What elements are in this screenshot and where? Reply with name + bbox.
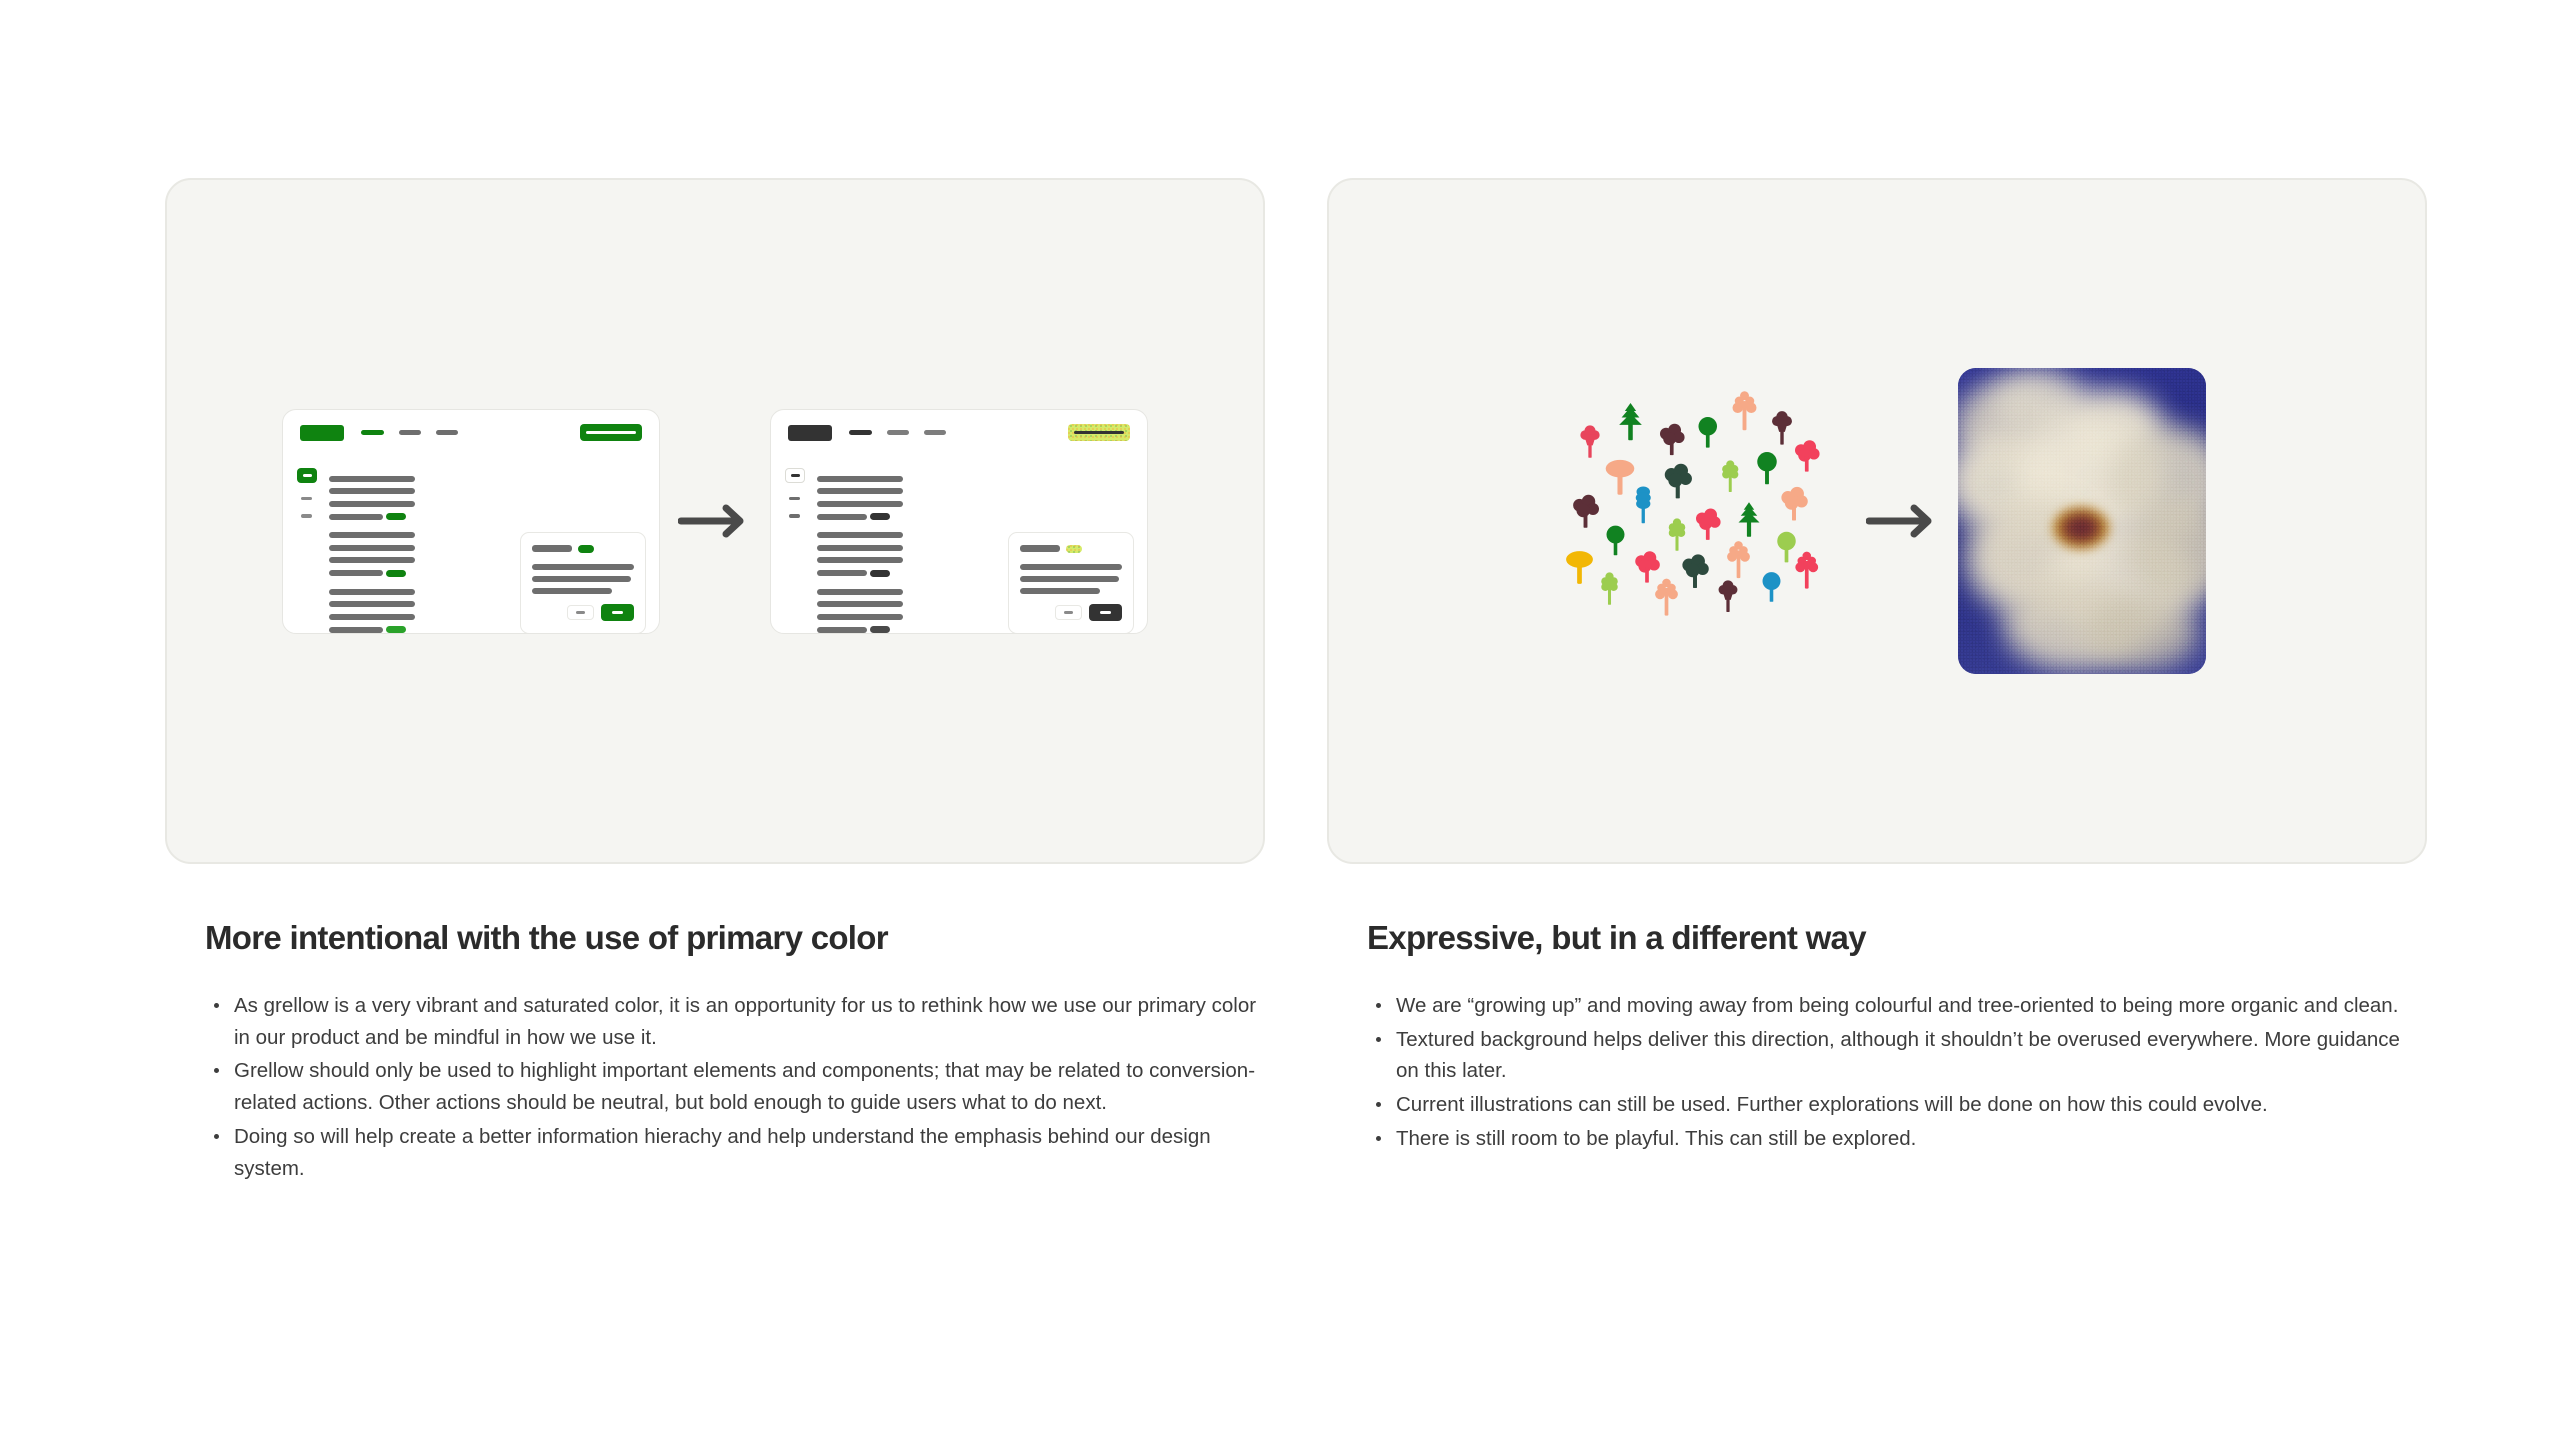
mockup-body [283,456,659,633]
tree-layered [1733,391,1757,430]
panel-line [1020,576,1119,582]
list-group [817,532,921,577]
tree-round [1607,526,1625,556]
panel-header [532,545,634,553]
list-row [329,488,433,494]
rail-item-label [303,474,312,477]
list-item: Doing so will help create a better infor… [205,1121,1261,1185]
detail-panel [1008,532,1134,634]
status-chip [578,545,594,553]
list-row [817,570,921,577]
list-row [329,545,433,551]
list-row [817,601,921,607]
row-tag [870,513,890,520]
list-row [817,589,921,595]
tree-round [1777,532,1796,563]
nav-item[interactable] [436,430,458,435]
nav-item[interactable] [924,430,946,435]
tree-tall [1636,487,1651,524]
tree-layered [1795,552,1818,589]
mockup-topbar [771,410,1147,456]
list-row [817,614,921,620]
column-primary-color: More intentional with the use of primary… [165,178,1265,1187]
status-chip [1066,545,1082,553]
page-title: Expressive, but in a different way [1367,920,2423,957]
text-block-expressive: Expressive, but in a different way We ar… [1327,864,2427,1155]
mockup-side-rail [283,456,329,633]
list-row [817,532,921,538]
list-item: Grellow should only be used to highlight… [205,1055,1261,1119]
logo-block [300,425,344,441]
tree-round [1763,572,1781,602]
panel-body [1020,564,1122,594]
rail-item[interactable] [789,497,800,501]
list-item: Textured background helps deliver this d… [1367,1024,2423,1088]
ui-mockup-green-heavy [282,409,660,634]
panel-line [1020,564,1122,570]
tree-leafy [1669,518,1686,550]
tree-cluster-svg [1548,371,1848,671]
comparison-columns: More intentional with the use of primary… [0,0,2560,1187]
mockup-side-rail [771,456,817,633]
tree-layered [1727,541,1750,578]
list-row [817,501,921,507]
mockup-body [771,456,1147,633]
list-group [329,476,433,521]
row-tag [870,626,890,633]
secondary-button[interactable] [1055,605,1082,620]
tree-fir [1719,580,1738,612]
rail-item-label [791,474,800,477]
list-group [329,532,433,577]
rail-item[interactable] [301,497,312,501]
list-row [817,513,921,520]
row-tag [386,513,406,520]
text-block-primary-color: More intentional with the use of primary… [165,864,1265,1185]
arrow-right-icon [1848,501,1958,541]
list-group [329,589,433,634]
bullet-list-expressive: We are “growing up” and moving away from… [1367,990,2423,1155]
primary-cta-button[interactable] [580,424,642,441]
primary-button-label [1100,611,1111,614]
panel-header [1020,545,1122,553]
panel-line [532,588,612,594]
list-row [329,626,433,633]
panel-line [532,576,631,582]
nav-item-active[interactable] [361,430,384,435]
list-row [329,614,433,620]
mockup-topnav [361,430,458,435]
page-title: More intentional with the use of primary… [205,920,1261,957]
row-tag [386,570,406,577]
tree-cloud [1665,464,1692,499]
photo-grain-texture [1958,368,2206,674]
panel-title [1020,545,1060,552]
tree-round [1757,452,1777,484]
tree-leafy [1722,460,1738,492]
tree-round [1698,417,1717,448]
row-tag [870,570,890,577]
list-row [329,570,433,577]
tree-cloud [1635,551,1660,582]
detail-panel [520,532,646,634]
bullet-list-primary-color: As grellow is a very vibrant and saturat… [205,990,1261,1185]
list-row [329,601,433,607]
rail-item[interactable] [789,514,800,518]
nav-item[interactable] [399,430,421,435]
mockup-topbar [283,410,659,456]
showcase-card-primary-color [165,178,1265,864]
tree-fir [1580,425,1599,457]
list-item: There is still room to be playful. This … [1367,1123,2423,1155]
row-tag [386,626,406,633]
list-row [329,513,433,520]
list-row [329,532,433,538]
tree-pine [1739,502,1760,537]
tree-blob [1606,460,1635,495]
primary-cta-button[interactable] [1068,424,1130,441]
nav-item[interactable] [887,430,909,435]
tree-cloud [1573,495,1599,528]
tree-cloud [1682,554,1708,588]
showcase-card-expressive [1327,178,2427,864]
list-row [329,557,433,563]
list-group [817,589,921,634]
list-row [817,476,921,482]
list-row [329,501,433,507]
panel-actions [1020,604,1122,621]
tree-cloud [1696,509,1721,540]
tree-leafy [1601,572,1618,604]
tree-blob [1566,551,1593,584]
grellow-texture [1066,545,1082,553]
list-row [817,626,921,633]
secondary-button-label [1064,611,1073,614]
tree-illustration-cluster [1548,371,1848,671]
list-group [817,476,921,521]
list-row [329,589,433,595]
rail-item-active[interactable] [297,468,317,483]
list-row [817,557,921,563]
panel-line [532,564,634,570]
primary-button[interactable] [1089,604,1122,621]
tree-cloud [1795,440,1820,471]
tree-layered [1655,579,1678,616]
primary-button-label [612,611,623,614]
logo-block [788,425,832,441]
column-expressive: Expressive, but in a different way We ar… [1327,178,2427,1187]
nav-item-active[interactable] [849,430,872,435]
list-row [817,545,921,551]
primary-button[interactable] [601,604,634,621]
arrow-right-icon [660,501,770,541]
panel-actions [532,604,634,621]
tree-pine [1619,403,1642,440]
tree-fir [1772,411,1792,444]
rail-item-active[interactable] [785,468,805,483]
secondary-button-label [576,611,585,614]
cta-label [586,431,636,434]
ui-mockup-neutral-with-grellow [770,409,1148,634]
panel-title [532,545,572,552]
cta-label [1074,431,1124,434]
mockup-content-list [329,456,433,633]
textured-flower-photo [1958,368,2206,674]
panel-line [1020,588,1100,594]
slide-root: More intentional with the use of primary… [0,0,2560,1440]
list-row [329,476,433,482]
tree-cloud [1781,487,1807,521]
list-item: We are “growing up” and moving away from… [1367,990,2423,1022]
mockup-content-list [817,456,921,633]
tree-cloud [1660,424,1685,455]
mockup-topnav [849,430,946,435]
list-item: As grellow is a very vibrant and saturat… [205,990,1261,1054]
list-row [817,488,921,494]
rail-item[interactable] [301,514,312,518]
panel-body [532,564,634,594]
secondary-button[interactable] [567,605,594,620]
list-item: Current illustrations can still be used.… [1367,1089,2423,1121]
